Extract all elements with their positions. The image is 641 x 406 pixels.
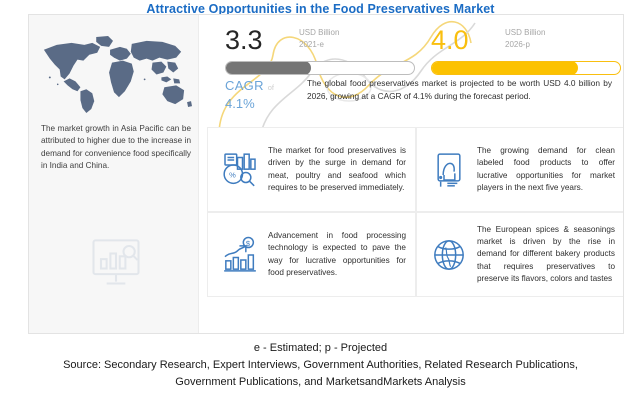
infographic-page: Attractive Opportunities in the Food Pre… (0, 0, 641, 406)
stat-value: 3.3 (225, 23, 263, 57)
stat-unit-label: USD Billion (505, 27, 545, 39)
progress-bar-current (225, 61, 415, 75)
footer-legend: e - Estimated; p - Projected (0, 340, 641, 357)
presentation-chart-icon (85, 231, 147, 291)
insight-card: The European spices & seasonings market … (416, 212, 624, 297)
insight-card-text: The European spices & seasonings market … (475, 224, 624, 285)
footer: e - Estimated; p - Projected Source: Sec… (0, 340, 641, 391)
svg-text:%: % (229, 170, 236, 179)
stat-block-current: 3.3 USD Billion 2021-e (225, 23, 415, 75)
world-map-icon (35, 29, 193, 115)
content-column: 3.3 USD Billion 2021-e 4.0 USD Billion 2 (199, 15, 623, 333)
stat-head: 3.3 USD Billion 2021-e (225, 23, 415, 61)
progress-bar-fill (225, 61, 311, 75)
stat-year-label: 2026-p (505, 39, 545, 51)
stat-head: 4.0 USD Billion 2026-p (431, 23, 621, 61)
region-panel: The market growth in Asia Pacific can be… (29, 15, 199, 333)
cagr-label: CAGR (225, 78, 264, 93)
report-bar-chart-search-icon: % (214, 145, 266, 195)
progress-bar-projected (431, 61, 621, 75)
insight-card-text: Advancement in food processing technolog… (266, 230, 415, 279)
stat-block-projected: 4.0 USD Billion 2026-p (431, 23, 621, 75)
footer-source-line-2: Government Publications, and MarketsandM… (0, 374, 641, 391)
main-panel: The market growth in Asia Pacific can be… (28, 14, 624, 334)
insight-cards: % The market for food preservatives is d… (207, 127, 624, 327)
cagr-of-label: of (268, 83, 274, 92)
stat-unit: USD Billion 2021-e (299, 27, 339, 50)
globe-icon (423, 230, 475, 280)
insight-card: $ Advancement in food processing technol… (207, 212, 416, 297)
region-description: The market growth in Asia Pacific can be… (41, 123, 191, 173)
growth-bar-chart-dollar-icon: $ (214, 230, 266, 280)
progress-bar-fill (431, 61, 578, 75)
stat-year-label: 2021-e (299, 39, 339, 51)
insight-card: % The market for food preservatives is d… (207, 127, 416, 212)
stat-unit: USD Billion 2026-p (505, 27, 545, 50)
footer-source-line-1: Source: Secondary Research, Expert Inter… (0, 357, 641, 374)
market-description: The global food preservatives market is … (307, 77, 612, 102)
cagr-value: 4.1% (225, 96, 303, 111)
cagr-block: CAGRof 4.1% (225, 77, 303, 111)
stat-unit-label: USD Billion (299, 27, 339, 39)
insight-card: The growing demand for clean labeled foo… (416, 127, 624, 212)
insight-card-text: The market for food preservatives is dri… (266, 145, 415, 194)
cagr-label-row: CAGRof (225, 77, 303, 95)
hand-label-product-icon (423, 145, 475, 195)
stat-value: 4.0 (431, 23, 469, 57)
insight-card-text: The growing demand for clean labeled foo… (475, 145, 624, 194)
